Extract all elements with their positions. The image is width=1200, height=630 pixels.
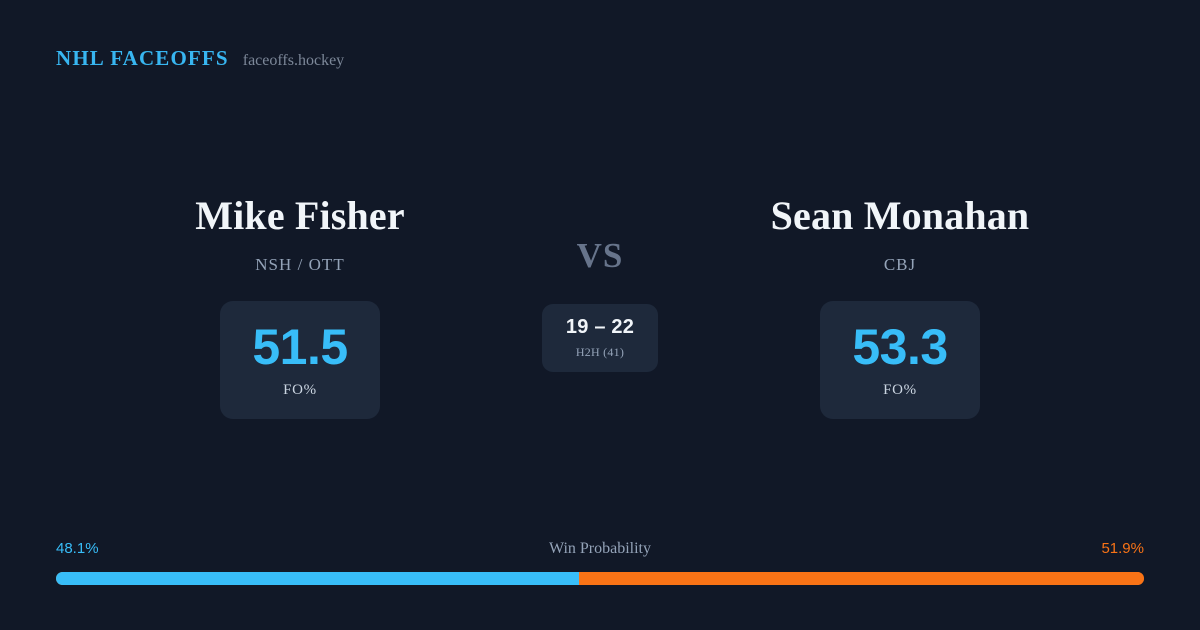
win-probability-bar-left-fill	[56, 572, 579, 585]
stat-card-left: 51.5 FO%	[220, 301, 380, 419]
versus-panel: VS 19 – 22 H2H (41)	[500, 196, 700, 372]
player-team-right: CBJ	[884, 255, 916, 275]
stat-card-right: 53.3 FO%	[820, 301, 980, 419]
site-header: NHL FACEOFFS faceoffs.hockey	[56, 46, 344, 71]
win-probability-title: Win Probability	[549, 540, 651, 558]
head-to-head-record: 19 – 22	[566, 317, 634, 337]
brand-title: NHL FACEOFFS	[56, 46, 229, 71]
player-panel-right: Sean Monahan CBJ 53.3 FO%	[700, 196, 1100, 419]
head-to-head-label: H2H (41)	[576, 345, 624, 360]
stat-value-left: 51.5	[252, 322, 347, 372]
player-team-left: NSH / OTT	[255, 255, 344, 275]
player-panel-left: Mike Fisher NSH / OTT 51.5 FO%	[100, 196, 500, 419]
win-probability-right-value: 51.9%	[1101, 540, 1144, 557]
stat-label-left: FO%	[283, 382, 317, 399]
win-probability-bar-right-fill	[579, 572, 1144, 585]
player-name-left: Mike Fisher	[195, 196, 405, 236]
win-probability-labels: 48.1% Win Probability 51.9%	[56, 540, 1144, 560]
stat-value-right: 53.3	[852, 322, 947, 372]
site-domain: faceoffs.hockey	[243, 52, 344, 70]
win-probability-left-value: 48.1%	[56, 540, 99, 557]
win-probability-bar	[56, 572, 1144, 585]
player-name-right: Sean Monahan	[771, 196, 1030, 236]
head-to-head-box: 19 – 22 H2H (41)	[542, 304, 658, 372]
versus-label: VS	[577, 238, 624, 273]
matchup-section: Mike Fisher NSH / OTT 51.5 FO% VS 19 – 2…	[0, 196, 1200, 419]
stat-label-right: FO%	[883, 382, 917, 399]
win-probability-section: 48.1% Win Probability 51.9%	[56, 540, 1144, 585]
